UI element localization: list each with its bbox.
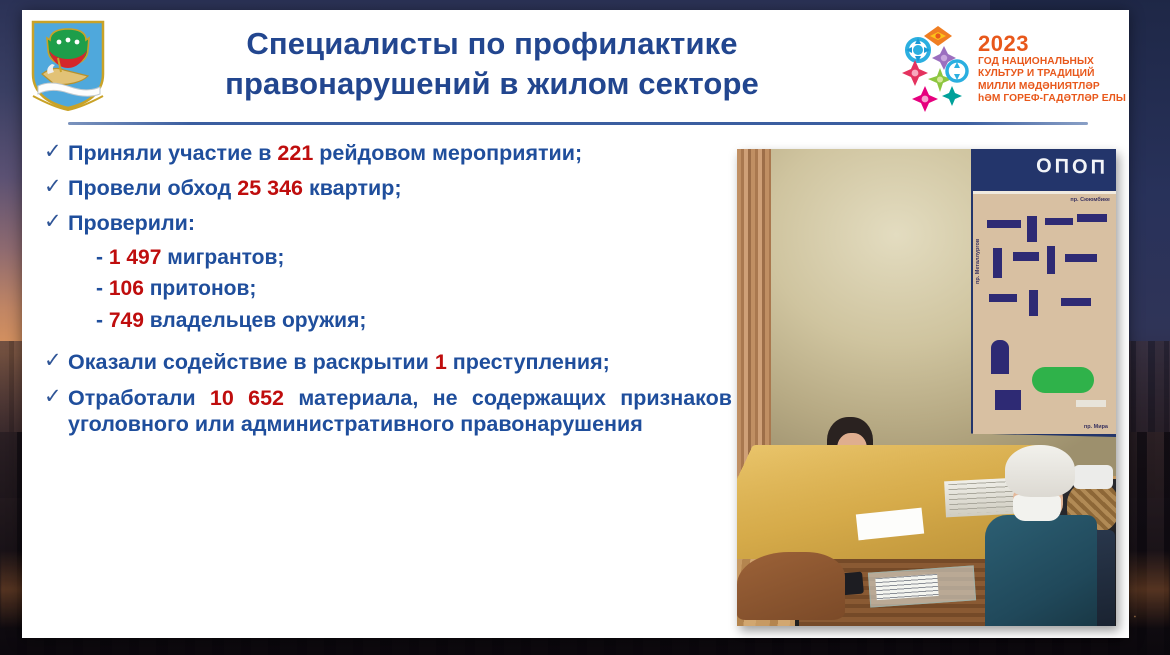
sub-item-label: мигрантов; <box>161 246 284 269</box>
year-logo-line-3: МИЛЛИ МӘДӘНИЯТЛӘР <box>978 81 1126 93</box>
coat-of-arms-icon <box>28 18 108 112</box>
photo-board-label: ОПОП <box>972 153 1112 179</box>
list-item-value: 221 <box>277 141 313 165</box>
list-item: ✓ Отработали 10 652 материала, не содерж… <box>42 385 732 437</box>
sub-list-item: - 749 владельцев оружия; <box>96 308 732 334</box>
checkmark-icon: ✓ <box>42 140 68 165</box>
sub-item-label: владельцев оружия; <box>144 309 366 332</box>
photo-desk-glass <box>868 565 976 607</box>
list-item: ✓ Провели обход 25 346 квартир; <box>42 175 732 201</box>
list-item-value: 25 346 <box>237 176 303 200</box>
photo-wooden-chair <box>737 552 845 620</box>
list-item-prefix: Провели обход <box>68 176 237 200</box>
checkmark-icon: ✓ <box>42 385 68 410</box>
photo-map-block <box>1047 246 1055 274</box>
header-divider <box>68 122 1088 125</box>
list-item-suffix: рейдовом мероприятии; <box>313 141 582 165</box>
photo-door-panel <box>737 149 771 479</box>
list-item-value: 1 <box>435 350 447 374</box>
photo-map-block <box>993 248 1002 278</box>
slide-header: Специалисты по профилактике правонарушен… <box>22 10 1129 128</box>
photo-visitor-1-face-mask <box>1013 495 1061 521</box>
list-item-suffix: квартир; <box>303 176 402 200</box>
sub-item-dash: - <box>96 277 103 300</box>
police-officer-consultation-photo: ОПОП пр. Сююмбике пр. Металлургов пр. Ми… <box>737 149 1116 626</box>
photo-map-park <box>1032 367 1094 393</box>
photo-map-street-top: пр. Сююмбике <box>1070 197 1110 203</box>
photo-map-block <box>1045 218 1073 225</box>
page-title-line-1: Специалисты по профилактике <box>142 24 842 64</box>
sub-item-value: 106 <box>109 277 144 300</box>
year-logo-line-1: ГОД НАЦИОНАЛЬНЫХ <box>978 56 1126 68</box>
list-item-text: Приняли участие в 221 рейдовом мероприят… <box>68 140 732 166</box>
list-item-text: Провели обход 25 346 квартир; <box>68 175 732 201</box>
year-2023-logo: 2023 ГОД НАЦИОНАЛЬНЫХ КУЛЬТУР И ТРАДИЦИЙ… <box>902 18 1117 118</box>
page-title-line-2: правонарушений в жилом секторе <box>142 64 842 104</box>
year-logo-line-4: hӘМ ГОРЕФ-ГАДӘТЛӘР ЕЛЫ <box>978 93 1126 105</box>
sub-list-item: - 106 притонов; <box>96 276 732 302</box>
list-item-text: Отработали 10 652 материала, не содержащ… <box>68 385 732 437</box>
list-item-text: Оказали содействие в раскрытии 1 преступ… <box>68 349 732 375</box>
slide-card: Специалисты по профилактике правонарушен… <box>22 10 1129 638</box>
sub-item-dash: - <box>96 246 103 269</box>
list-item-suffix: преступления; <box>447 350 610 374</box>
list-item-value: 10 652 <box>210 386 284 410</box>
photo-desk-document <box>875 574 938 600</box>
list-item-prefix: Отработали <box>68 386 210 410</box>
sub-item-value: 1 497 <box>109 246 162 269</box>
sub-item-dash: - <box>96 309 103 332</box>
photo-map-block <box>991 340 1009 374</box>
photo-map-block <box>1061 298 1091 306</box>
photo-map-block <box>987 220 1021 228</box>
photo-map-block <box>995 390 1021 410</box>
photo-map-block <box>1027 216 1037 242</box>
photo-visitor-1-hat <box>1005 445 1075 497</box>
sub-item-label: притонов; <box>144 277 257 300</box>
year-logo-year: 2023 <box>978 33 1126 55</box>
photo-district-map: пр. Сююмбике пр. Металлургов пр. Мира <box>973 191 1116 434</box>
photo-map-block <box>1029 290 1038 316</box>
checkmark-icon: ✓ <box>42 349 68 374</box>
national-ornament-icon <box>902 24 972 112</box>
slide-content: ✓ Приняли участие в 221 рейдовом меропри… <box>22 128 1129 638</box>
list-item-prefix: Приняли участие в <box>68 141 277 165</box>
list-item: ✓ Проверили: <box>42 210 732 236</box>
list-item-text: Проверили: <box>68 210 732 236</box>
checkmark-icon: ✓ <box>42 210 68 235</box>
year-logo-text: 2023 ГОД НАЦИОНАЛЬНЫХ КУЛЬТУР И ТРАДИЦИЙ… <box>978 31 1126 106</box>
list-item-prefix: Оказали содействие в раскрытии <box>68 350 435 374</box>
photo-map-street-left: пр. Металлургов <box>975 239 981 284</box>
statistics-list: ✓ Приняли участие в 221 рейдовом меропри… <box>42 140 732 437</box>
list-item: ✓ Оказали содействие в раскрытии 1 прест… <box>42 349 732 375</box>
list-item: ✓ Приняли участие в 221 рейдовом меропри… <box>42 140 732 166</box>
photo-map-block <box>1076 400 1106 407</box>
year-logo-line-2: КУЛЬТУР И ТРАДИЦИЙ <box>978 68 1126 80</box>
photo-map-block <box>1077 214 1107 222</box>
photo-map-block <box>1013 252 1039 261</box>
photo-visitor-2-face-mask <box>1073 465 1113 489</box>
photo-map-block <box>1065 254 1097 262</box>
sub-item-value: 749 <box>109 309 144 332</box>
checkmark-icon: ✓ <box>42 175 68 200</box>
sub-list-item: - 1 497 мигрантов; <box>96 245 732 271</box>
photo-map-block <box>989 294 1017 302</box>
photo-map-street-bottom: пр. Мира <box>1084 424 1108 430</box>
photo-visitor-1-jacket <box>985 515 1097 626</box>
page-title: Специалисты по профилактике правонарушен… <box>142 24 842 103</box>
